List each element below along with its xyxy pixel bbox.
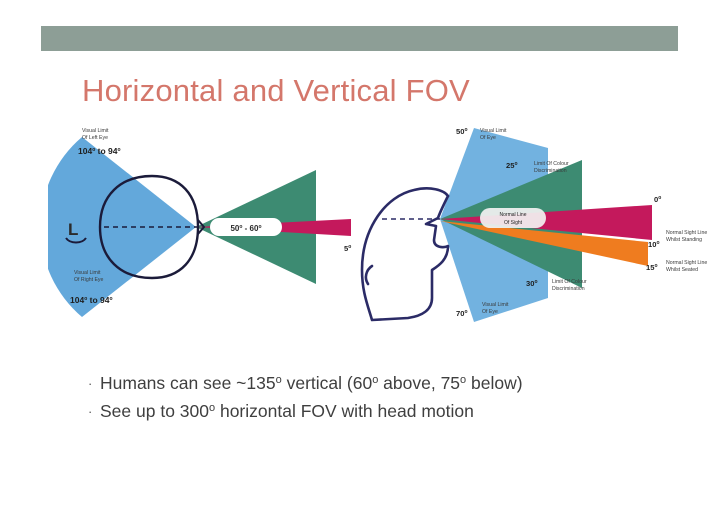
left-bottom-label-line1: Visual Limit [74,270,101,276]
standing-sight-line1: Normal Sight Line [666,230,707,236]
down-visual-limit-value: 70o [456,309,468,318]
up-visual-limit-line2: Of Eye [480,135,496,141]
vertical-fov-diagram: Normal Line Of Sight 50o Visual Limit Of… [352,120,712,335]
head-outline-profile [362,188,448,320]
svg-text:50o - 60o: 50o - 60o [230,224,261,233]
down-visual-limit-line2: Of Eye [482,309,498,315]
up-visual-limit-line1: Visual Limit [480,128,507,134]
standing-sight-value: 10o [648,240,660,249]
left-eye-letter: L [68,220,78,239]
left-focus-value: 5o [344,244,351,253]
up-colour-limit-line1: Limit Of Colour [534,161,569,167]
down-colour-limit-line1: Limit Of Colour [552,279,587,285]
down-visual-limit-line1: Visual Limit [482,302,509,308]
sight-badge-line2: Of Sight [504,220,523,226]
bullet-0-part2: vertical (60 [282,373,372,393]
left-top-value: 104o to 94o [78,146,121,156]
seated-sight-line2: Whilst Seated [666,267,698,273]
down-colour-limit-line2: Discrimination [552,286,585,292]
up-visual-limit-value: 50o [456,127,468,136]
bullet-0-part1: Humans can see ~135 [100,373,276,393]
header-decoration-bar [41,26,678,51]
list-item: ·Humans can see ~135o vertical (60o abov… [88,368,668,396]
left-top-label-line2: Of Left Eye [82,135,108,141]
left-bottom-label-line2: Of Right Eye [74,277,104,283]
seated-sight-value: 15o [646,263,658,272]
sight-badge-line1: Normal Line [500,212,527,218]
binocular-angle-badge: 50o - 60o [210,218,282,236]
bullet-list: ·Humans can see ~135o vertical (60o abov… [88,368,668,424]
bullet-0-part4: below) [466,373,522,393]
left-top-label-line1: Visual Limit [82,128,109,134]
page-title: Horizontal and Vertical FOV [82,73,470,109]
slide-canvas: Horizontal and Vertical FOV [0,0,720,509]
normal-line-of-sight-badge: Normal Line Of Sight [480,208,546,228]
zero-degree-value: 0o [654,195,661,204]
bullet-0-part3: above, 75 [378,373,460,393]
standing-sight-line2: Whilst Standing [666,237,702,243]
bullet-marker: · [88,399,100,424]
up-colour-limit-line2: Discrimination [534,168,567,174]
seated-sight-line1: Normal Sight Line [666,260,707,266]
list-item: ·See up to 300o horizontal FOV with head… [88,396,668,424]
bullet-1-part2: horizontal FOV with head motion [215,401,474,421]
left-bottom-value: 104o to 94o [70,295,113,305]
bullet-marker: · [88,371,100,396]
bullet-1-part1: See up to 300 [100,401,209,421]
horizontal-fov-diagram: L Visual Limit Of Left Eye 104o to 94o V… [48,120,368,335]
